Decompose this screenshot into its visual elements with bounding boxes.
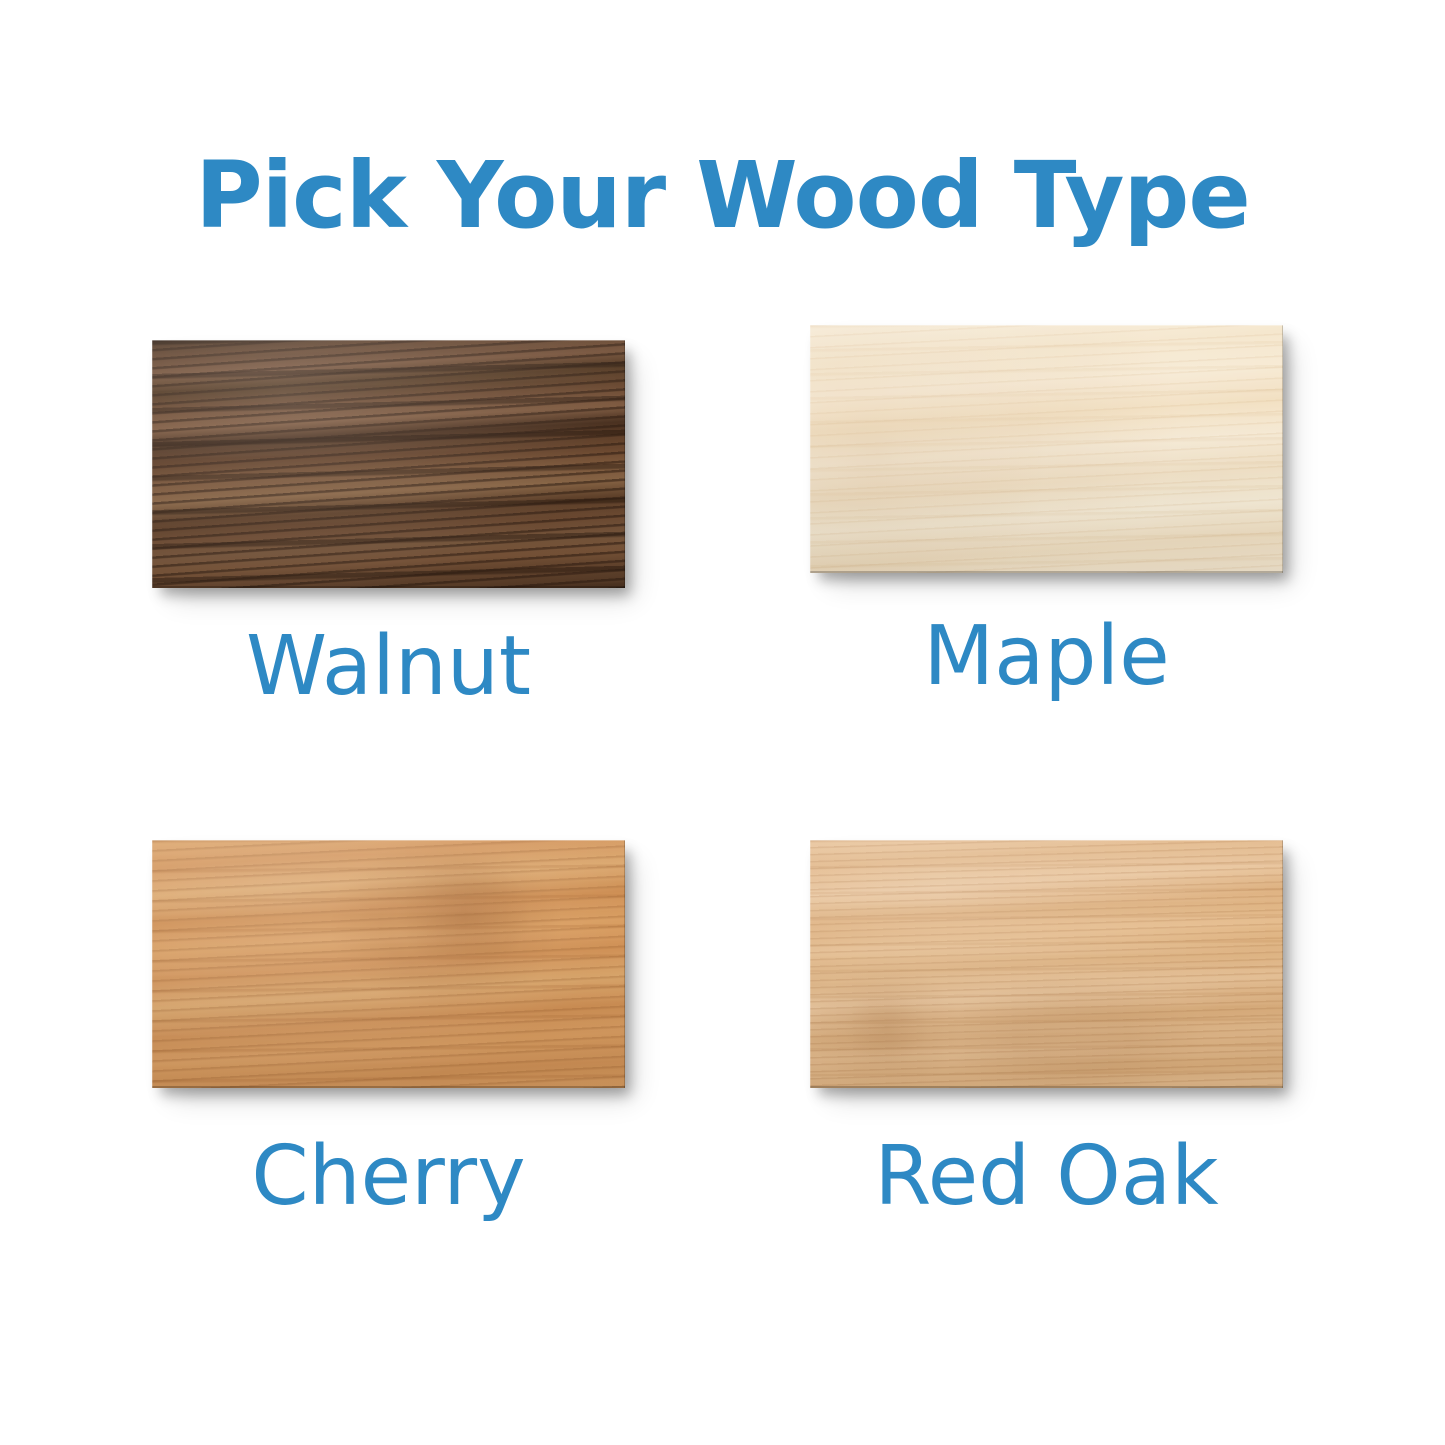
cherry-wood-swatch[interactable] (152, 840, 625, 1088)
red-oak-grain-texture (810, 840, 1283, 1088)
wood-type-selector-page: Pick Your Wood Type Walnut Maple (0, 0, 1445, 1445)
wood-option-red-oak[interactable]: Red Oak (810, 840, 1290, 1218)
wood-option-label-red-oak: Red Oak (810, 1136, 1283, 1218)
wood-option-label-cherry: Cherry (152, 1136, 625, 1218)
wood-option-label-maple: Maple (810, 616, 1283, 698)
page-title: Pick Your Wood Type (0, 150, 1445, 242)
wood-option-walnut[interactable]: Walnut (152, 340, 632, 708)
maple-grain-texture (810, 325, 1283, 573)
wood-option-cherry[interactable]: Cherry (152, 840, 632, 1218)
walnut-grain-texture (152, 340, 625, 588)
cherry-grain-texture (152, 840, 625, 1088)
wood-option-label-walnut: Walnut (152, 626, 625, 708)
maple-wood-swatch[interactable] (810, 325, 1283, 573)
wood-swatch-grid: Walnut Maple Cherry (0, 325, 1445, 1345)
walnut-wood-swatch[interactable] (152, 340, 625, 588)
red-oak-wood-swatch[interactable] (810, 840, 1283, 1088)
wood-option-maple[interactable]: Maple (810, 325, 1290, 698)
